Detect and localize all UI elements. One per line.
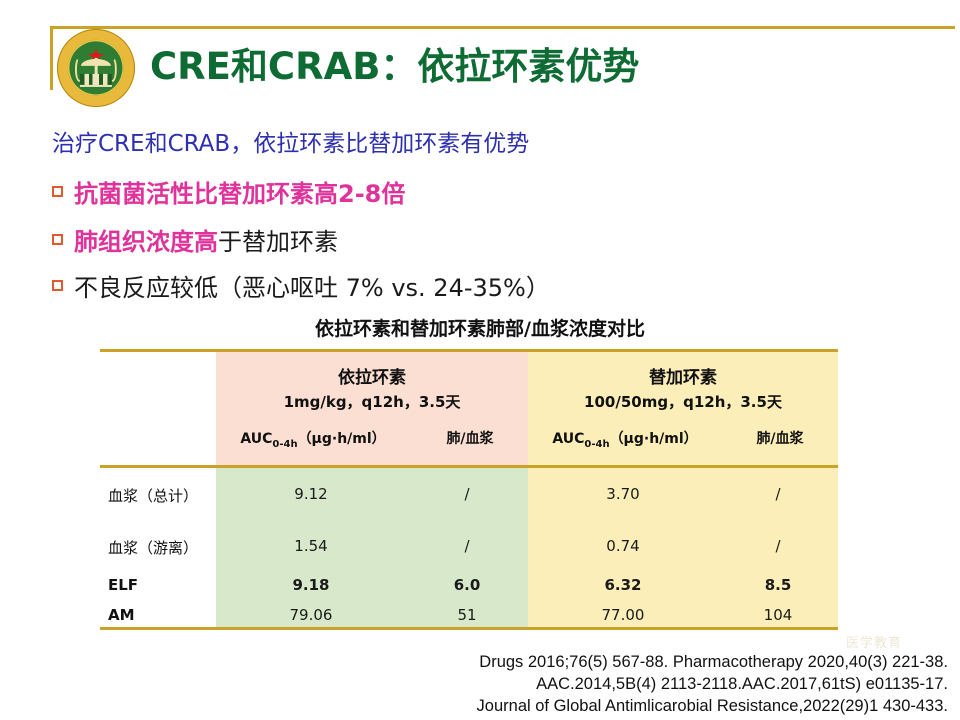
building-icon bbox=[80, 74, 112, 87]
auc-subscript: 0-4h bbox=[272, 439, 297, 450]
university-emblem-logo bbox=[57, 29, 135, 107]
group-header-eravacycline: 依拉环素 bbox=[216, 363, 528, 388]
cell-tigecycline-ratio: 104 bbox=[718, 606, 838, 624]
reference-line: Journal of Global Antimlicarobial Resist… bbox=[477, 695, 948, 717]
comparison-table: 依拉环素 1mg/kg，q12h，3.5天 替加环素 100/50mg，q12h… bbox=[100, 349, 838, 630]
cell-tigecycline-auc: 0.74 bbox=[528, 537, 718, 555]
auc-prefix: AUC bbox=[552, 431, 584, 447]
square-bullet-icon bbox=[52, 280, 63, 291]
cell-tigecycline-auc: 6.32 bbox=[528, 576, 718, 594]
bullet-2-rest: 于替加环素 bbox=[218, 222, 338, 257]
cell-eravacycline-auc: 1.54 bbox=[216, 537, 406, 555]
group-dose-eravacycline: 1mg/kg，q12h，3.5天 bbox=[216, 391, 528, 412]
group-header-tigecycline: 替加环素 bbox=[528, 363, 838, 388]
table-rule-top bbox=[100, 349, 838, 352]
cell-eravacycline-auc: 9.12 bbox=[216, 485, 406, 503]
cell-eravacycline-ratio: 51 bbox=[406, 606, 528, 624]
slide-canvas: CRE和CRAB：依拉环素优势 治疗CRE和CRAB，依拉环素比替加环素有优势 … bbox=[0, 0, 960, 720]
watermark-text: 医学教育 bbox=[846, 632, 902, 651]
square-bullet-icon bbox=[52, 186, 63, 197]
cell-tigecycline-ratio: 8.5 bbox=[718, 576, 838, 594]
header-vertical-rule bbox=[50, 26, 53, 90]
reference-list: Drugs 2016;76(5) 567-88. Pharmacotherapy… bbox=[477, 651, 948, 717]
reference-line: AAC.2014,5B(4) 2113-2118.AAC.2017,61tS) … bbox=[477, 673, 948, 695]
emblem-inner-disc bbox=[68, 40, 124, 96]
bullet-3-text: 不良反应较低（恶心呕吐 7% vs. 24-35%） bbox=[74, 268, 550, 303]
auc-subscript: 0-4h bbox=[584, 439, 609, 450]
cell-eravacycline-ratio: / bbox=[406, 485, 528, 503]
cell-tigecycline-ratio: / bbox=[718, 537, 838, 555]
column-header-auc-eravacycline: AUC0-4h（μg·h/ml） bbox=[218, 428, 408, 450]
lead-statement: 治疗CRE和CRAB，依拉环素比替加环素有优势 bbox=[52, 124, 529, 158]
cell-tigecycline-ratio: / bbox=[718, 485, 838, 503]
column-header-ratio-eravacycline: 肺/血浆 bbox=[412, 428, 528, 448]
square-bullet-icon bbox=[52, 234, 63, 245]
auc-unit: （μg·h/ml） bbox=[298, 431, 386, 447]
table-caption: 依拉环素和替加环素肺部/血浆浓度对比 bbox=[0, 314, 960, 341]
bullet-item-1: 抗菌菌活性比替加环素高2-8倍 bbox=[52, 174, 405, 209]
table-rule-bottom bbox=[100, 627, 838, 630]
column-header-auc-tigecycline: AUC0-4h（μg·h/ml） bbox=[530, 428, 720, 450]
auc-unit: （μg·h/ml） bbox=[610, 431, 698, 447]
cell-eravacycline-ratio: / bbox=[406, 537, 528, 555]
slide-title: CRE和CRAB：依拉环素优势 bbox=[150, 36, 639, 90]
column-header-ratio-tigecycline: 肺/血浆 bbox=[722, 428, 838, 448]
cell-eravacycline-ratio: 6.0 bbox=[406, 576, 528, 594]
row-label: 血浆（总计） bbox=[108, 485, 216, 506]
group-dose-tigecycline: 100/50mg，q12h，3.5天 bbox=[528, 391, 838, 412]
header-horizontal-rule bbox=[50, 26, 955, 29]
bullet-1-highlight: 抗菌菌活性比替加环素高2-8倍 bbox=[74, 174, 405, 209]
bullet-2-highlight: 肺组织浓度高 bbox=[74, 222, 218, 257]
auc-prefix: AUC bbox=[240, 431, 272, 447]
row-label: AM bbox=[108, 606, 216, 624]
cell-eravacycline-auc: 79.06 bbox=[216, 606, 406, 624]
row-label: ELF bbox=[108, 576, 216, 594]
bullet-item-3: 不良反应较低（恶心呕吐 7% vs. 24-35%） bbox=[52, 268, 550, 303]
reference-line: Drugs 2016;76(5) 567-88. Pharmacotherapy… bbox=[477, 651, 948, 673]
cell-tigecycline-auc: 77.00 bbox=[528, 606, 718, 624]
row-label: 血浆（游离） bbox=[108, 537, 216, 558]
bullet-item-2: 肺组织浓度高于替加环素 bbox=[52, 222, 338, 257]
table-rule-middle bbox=[100, 465, 838, 468]
cell-eravacycline-auc: 9.18 bbox=[216, 576, 406, 594]
cell-tigecycline-auc: 3.70 bbox=[528, 485, 718, 503]
